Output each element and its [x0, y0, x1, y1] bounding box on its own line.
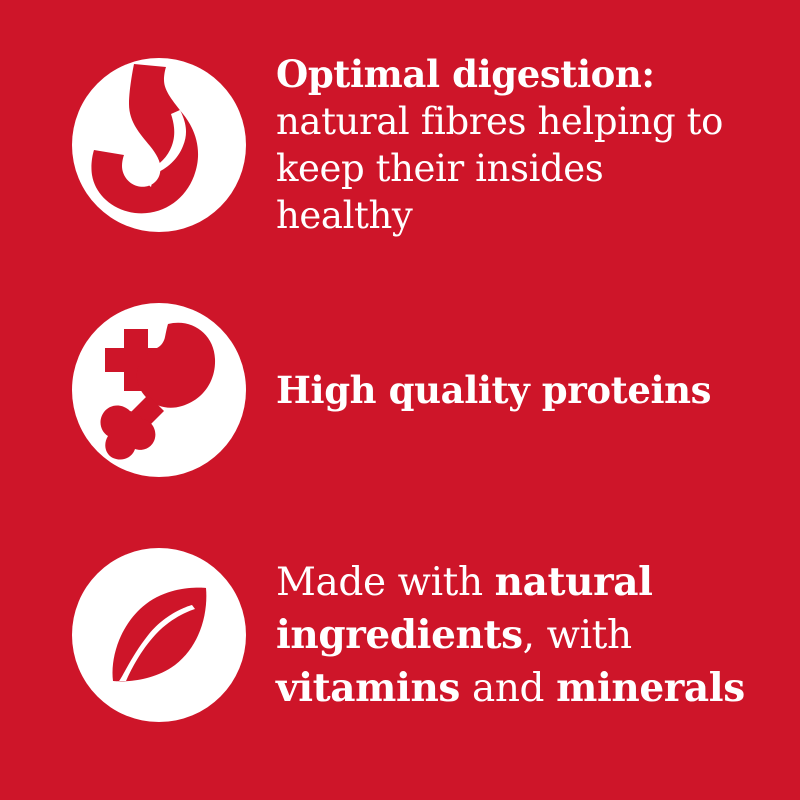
chicken-drumstick-plus-icon [72, 303, 246, 477]
product-benefits-panel: Optimal digestion: natural fibres helpin… [0, 0, 800, 800]
feature-text-proteins: High quality proteins [276, 367, 800, 414]
feature-row: Optimal digestion: natural fibres helpin… [0, 45, 800, 245]
feature-text-part-bold: vitamins [276, 665, 460, 711]
feature-text-digestion: Optimal digestion: natural fibres helpin… [276, 51, 800, 239]
feature-text-part-bold: minerals [556, 665, 745, 711]
feature-text-ingredients: Made with natural ingredients, with vita… [276, 556, 800, 715]
feature-text-part: , with [523, 613, 632, 658]
feature-body: natural fibres helping to keep their ins… [276, 100, 723, 237]
feature-row: Made with natural ingredients, with vita… [0, 545, 800, 725]
feature-heading: High quality proteins [276, 368, 711, 412]
leaf-natural-icon [72, 548, 246, 722]
feature-row: High quality proteins [0, 300, 800, 480]
feature-heading: Optimal digestion: [276, 52, 655, 96]
feature-text-part: Made with [276, 560, 495, 605]
feature-text-part: and [460, 666, 556, 711]
stomach-digestion-icon [72, 58, 246, 232]
